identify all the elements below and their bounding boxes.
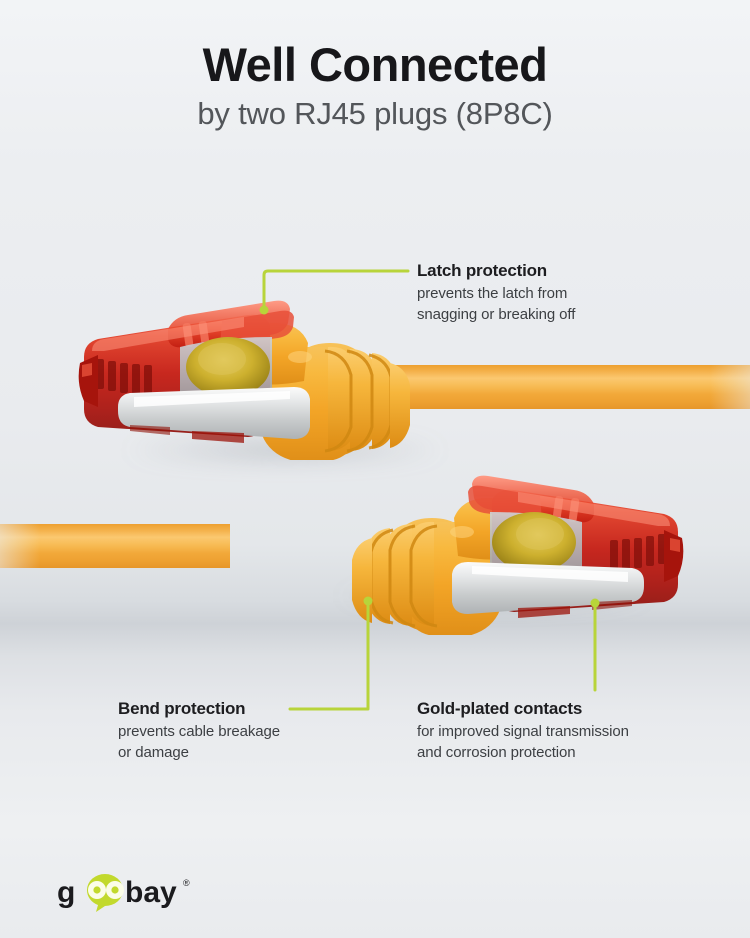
callout-latch-protection: Latch protection prevents the latch from… xyxy=(417,260,575,326)
page-subtitle: by two RJ45 plugs (8P8C) xyxy=(0,90,750,132)
cable-segment-bottom xyxy=(0,524,230,568)
callout-gold-plated-contacts: Gold-plated contacts for improved signal… xyxy=(417,698,629,764)
rj45-plug-top xyxy=(72,285,432,460)
callout-bend-protection: Bend protection prevents cable breakage … xyxy=(118,698,280,764)
infographic-canvas: Well Connected by two RJ45 plugs (8P8C) xyxy=(0,0,750,938)
callout-gold-line2: and corrosion protection xyxy=(417,743,629,764)
logo-letters-bay: bay xyxy=(125,876,177,909)
logo-trademark-icon: ® xyxy=(183,878,190,888)
metal-shield xyxy=(118,387,310,443)
logo-letter-g: g xyxy=(57,876,75,909)
callout-bend-heading: Bend protection xyxy=(118,698,280,719)
callout-bend-line2: or damage xyxy=(118,743,280,764)
callout-latch-line2: snagging or breaking off xyxy=(417,305,575,326)
metal-shield xyxy=(452,562,644,618)
plug-nose xyxy=(79,355,98,407)
page-title: Well Connected xyxy=(0,0,750,90)
cable-segment-top xyxy=(380,365,750,409)
callout-latch-line1: prevents the latch from xyxy=(417,284,575,305)
goobay-logo: g bay ® xyxy=(55,872,195,912)
callout-gold-line1: for improved signal transmission xyxy=(417,722,629,743)
cable-edge-fade-right xyxy=(710,365,750,409)
rj45-plug-bottom xyxy=(330,460,690,635)
callout-bend-line1: prevents cable breakage xyxy=(118,722,280,743)
header: Well Connected by two RJ45 plugs (8P8C) xyxy=(0,0,750,131)
callout-latch-heading: Latch protection xyxy=(417,260,575,281)
callout-gold-heading: Gold-plated contacts xyxy=(417,698,629,719)
cable-edge-fade-left xyxy=(0,524,40,568)
plug-nose xyxy=(664,530,683,582)
